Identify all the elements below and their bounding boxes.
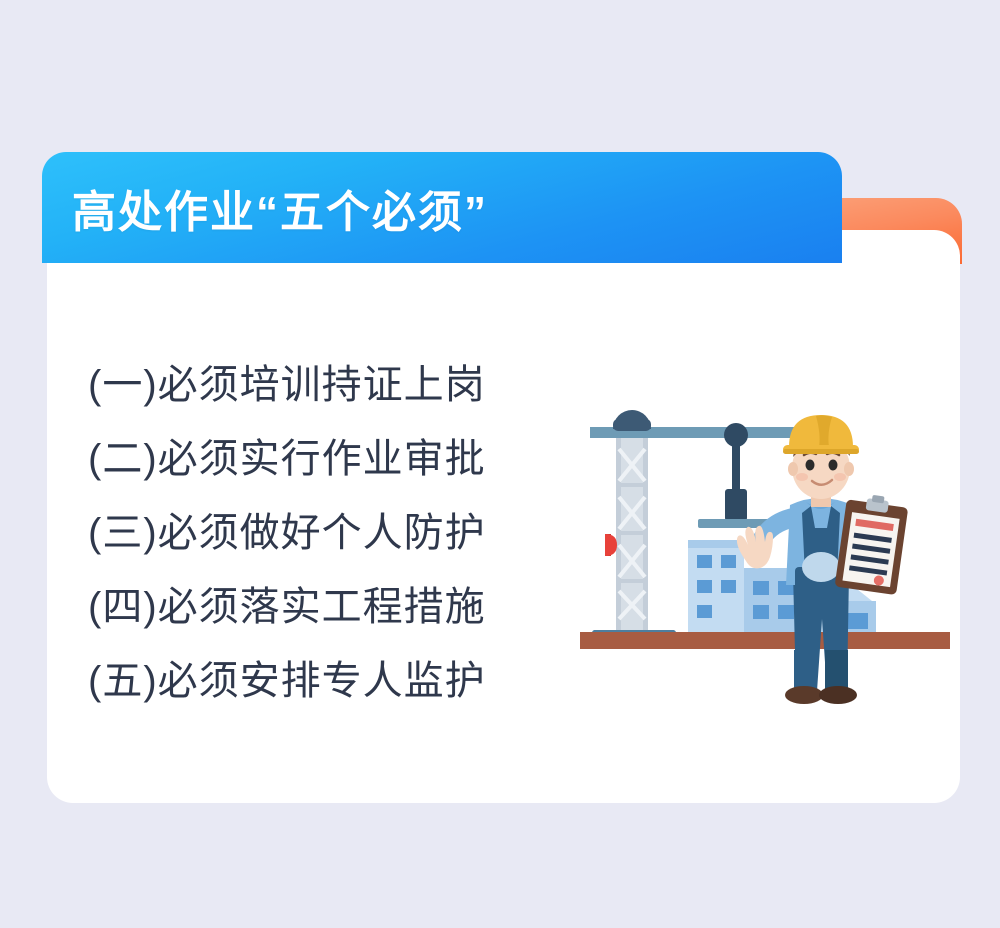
list-item: (一)必须培训持证上岗 <box>88 348 486 422</box>
warning-flag-icon <box>605 534 617 556</box>
page-title: 高处作业“五个必须” <box>72 176 488 240</box>
ground-strip <box>580 632 950 649</box>
clipboard-icon <box>835 491 910 595</box>
list-item: (三)必须做好个人防护 <box>88 496 486 570</box>
poster-root: 高处作业“五个必须” (一)必须培训持证上岗 (二)必须实行作业审批 (三)必须… <box>0 0 1000 928</box>
title-header-bar: 高处作业“五个必须” <box>42 152 842 263</box>
list-item: (四)必须落实工程措施 <box>88 570 486 644</box>
list-item: (五)必须安排专人监护 <box>88 644 486 718</box>
construction-worker-figure <box>737 415 909 704</box>
construction-scene-illustration <box>580 405 950 705</box>
hard-hat-icon <box>783 415 859 454</box>
requirements-list: (一)必须培训持证上岗 (二)必须实行作业审批 (三)必须做好个人防护 (四)必… <box>88 348 486 718</box>
list-item: (二)必须实行作业审批 <box>88 422 486 496</box>
